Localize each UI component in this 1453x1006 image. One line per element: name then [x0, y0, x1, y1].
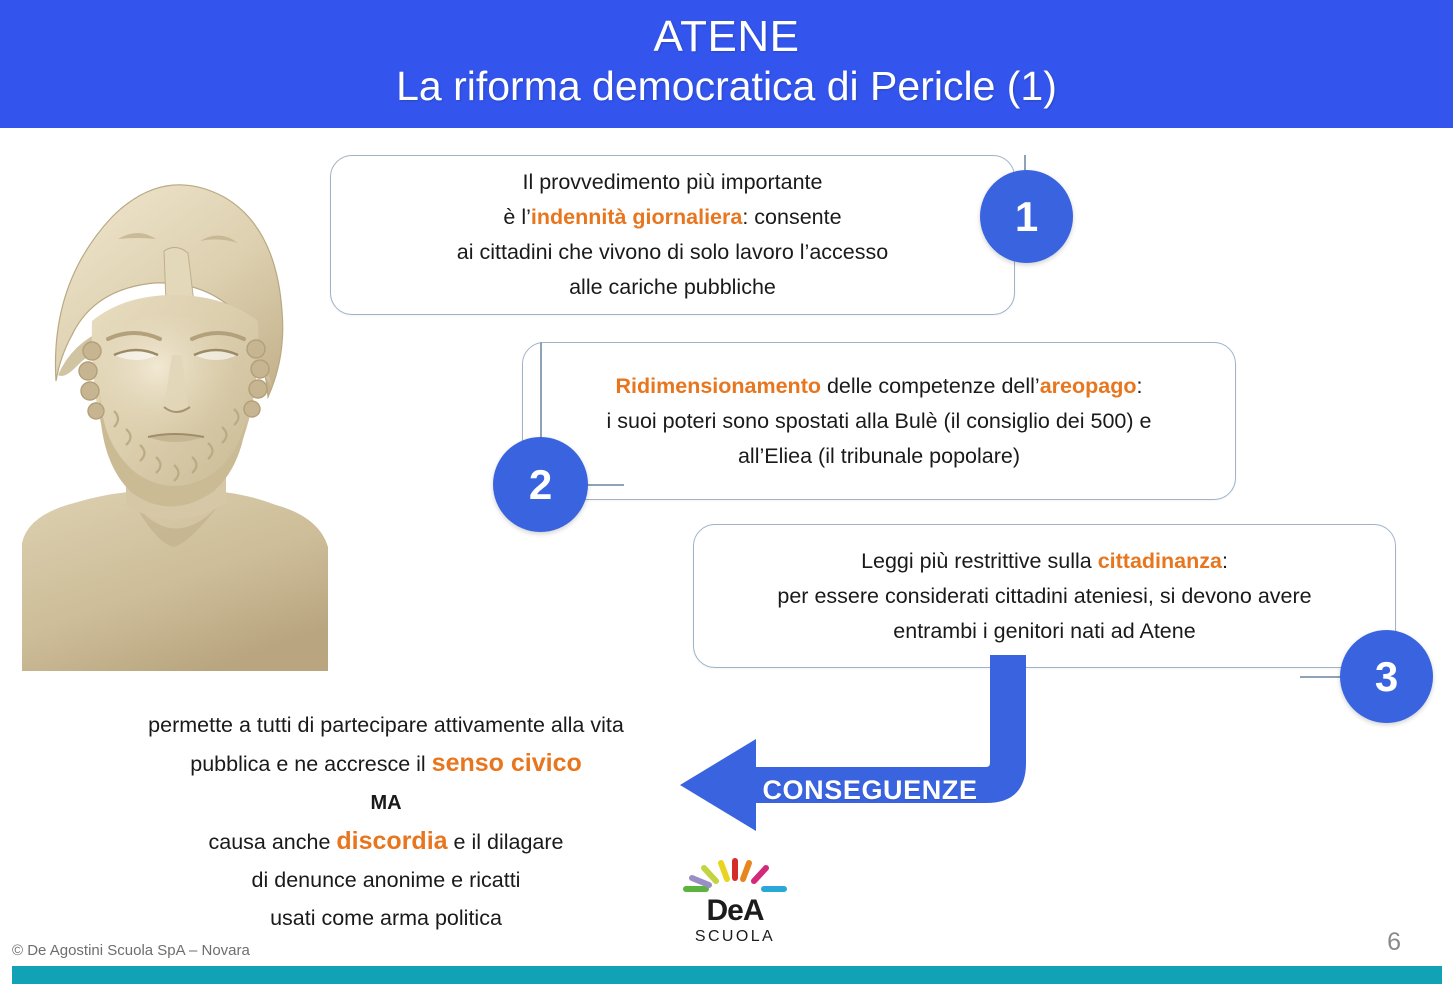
callout-2-line-1b: delle competenze dell’ — [821, 374, 1040, 398]
consequence-line-5: di denunce anonime e ricatti — [252, 868, 521, 892]
callout-box-3[interactable]: Leggi più restrittive sulla cittadinanza… — [693, 524, 1396, 668]
callout-2-text: Ridimensionamento delle competenze dell’… — [581, 363, 1178, 480]
page-subtitle: La riforma democratica di Pericle (1) — [396, 61, 1057, 111]
dea-scuola-logo: DeA SCUOLA — [676, 858, 794, 954]
logo-subtitle: SCUOLA — [676, 927, 794, 947]
consequence-line-2a: pubblica e ne accresce il — [190, 752, 431, 776]
consequence-line-4c: e il dilagare — [448, 830, 564, 854]
callout-2-highlight-ridimensionamento: Ridimensionamento — [616, 374, 821, 398]
callout-1-line-3: ai cittadini che vivono di solo lavoro l… — [457, 240, 888, 264]
consequence-connector-ma: MA — [370, 792, 401, 814]
callout-3-text: Leggi più restrittive sulla cittadinanza… — [751, 538, 1337, 655]
page-number: 6 — [1387, 928, 1401, 957]
page-title: ATENE — [654, 13, 800, 61]
slide-header: ATENE La riforma democratica di Pericle … — [0, 0, 1453, 128]
callout-3-line-3: entrambi i genitori nati ad Atene — [893, 619, 1195, 643]
conseguenze-arrow — [670, 655, 1090, 855]
callout-1-highlight-indennita: indennità giornaliera — [531, 205, 742, 229]
callout-1-line-4: alle cariche pubbliche — [569, 275, 776, 299]
callout-3-line-1c: : — [1222, 549, 1228, 573]
callout-box-2[interactable]: Ridimensionamento delle competenze dell’… — [522, 342, 1236, 500]
callout-box-1[interactable]: Il provvedimento più importante è l’inde… — [330, 155, 1015, 315]
callout-2-highlight-areopago: areopago — [1040, 374, 1137, 398]
callout-2-line-2: i suoi poteri sono spostati alla Bulè (i… — [607, 409, 1152, 433]
callout-2-line-3: all’Eliea (il tribunale popolare) — [738, 444, 1020, 468]
pericles-bust-image — [14, 143, 336, 671]
logo-rays-icon — [676, 858, 794, 894]
callout-3-line-1a: Leggi più restrittive sulla — [861, 549, 1098, 573]
callout-1-line-2c: : consente — [742, 205, 841, 229]
connector-badge2-box2 — [584, 484, 624, 486]
consequences-text-block: permette a tutti di partecipare attivame… — [88, 706, 684, 937]
consequence-highlight-discordia: discordia — [336, 827, 447, 855]
conseguenze-label: CONSEGUENZE — [760, 775, 980, 806]
callout-1-text: Il provvedimento più importante è l’inde… — [431, 159, 914, 311]
callout-2-line-1d: : — [1136, 374, 1142, 398]
callout-1-line-1: Il provvedimento più importante — [523, 170, 823, 194]
consequence-line-1: permette a tutti di partecipare attivame… — [148, 713, 624, 737]
consequence-highlight-senso-civico: senso civico — [432, 749, 582, 777]
connector-box2-badge2 — [540, 342, 542, 442]
step-badge-2[interactable]: 2 — [493, 437, 588, 532]
footer-accent-bar — [12, 966, 1442, 984]
step-badge-1[interactable]: 1 — [980, 170, 1073, 263]
callout-1-line-2a: è l’ — [503, 205, 530, 229]
logo-wordmark: DeA — [676, 895, 794, 927]
consequence-line-4a: causa anche — [209, 830, 337, 854]
copyright-notice: © De Agostini Scuola SpA – Novara — [12, 942, 250, 959]
slide-canvas: ATENE La riforma democratica di Pericle … — [0, 0, 1453, 1006]
step-badge-3[interactable]: 3 — [1340, 630, 1433, 723]
callout-3-line-2: per essere considerati cittadini atenies… — [777, 584, 1311, 608]
consequence-line-6: usati come arma politica — [270, 906, 502, 930]
callout-3-highlight-cittadinanza: cittadinanza — [1098, 549, 1222, 573]
